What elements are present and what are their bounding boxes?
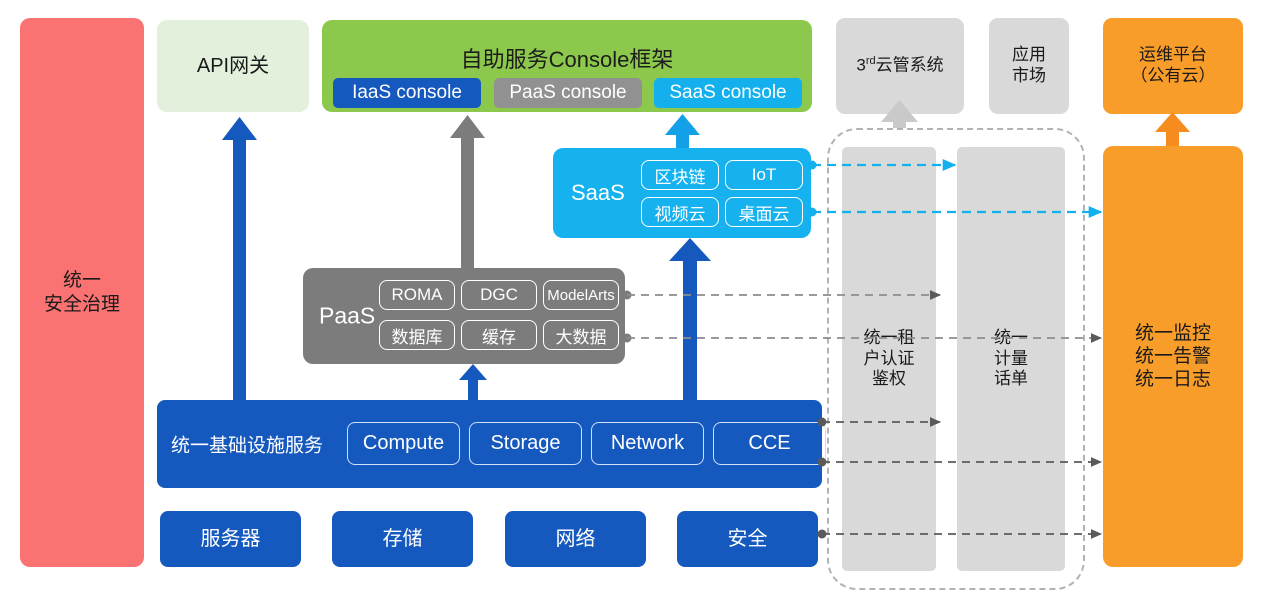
saas-console-button[interactable]: SaaS console: [654, 78, 802, 108]
resource-label-storage: 存储: [383, 527, 423, 551]
arrow-ops-column-to-ops-platform: [1155, 112, 1190, 146]
saas-chip-video-cloud[interactable]: 视频云: [641, 197, 719, 227]
resource-label-server: 服务器: [201, 527, 261, 551]
saas-layer-panel: SaaS 区块链 IoT 视频云 桌面云: [553, 148, 811, 238]
arrow-infra-to-saas: [669, 238, 711, 400]
paas-console-button[interactable]: PaaS console: [494, 78, 642, 108]
arrow-infra-to-paas: [459, 364, 487, 400]
app-marketplace-label: 应用 市场: [1012, 45, 1046, 86]
console-framework-panel: 自助服务Console框架 IaaS console PaaS console …: [322, 20, 812, 112]
saas-chip-blockchain[interactable]: 区块链: [641, 160, 719, 190]
paas-console-label: PaaS console: [509, 82, 626, 104]
paas-chip-dgc[interactable]: DGC: [461, 280, 537, 310]
infra-chip-compute[interactable]: Compute: [347, 422, 460, 465]
shared-service-billing-bar: 统一 计量 话单: [957, 147, 1065, 571]
paas-layer-panel: PaaS ROMA DGC ModelArts 数据库 缓存 大数据: [303, 268, 625, 364]
saas-chip-iot[interactable]: IoT: [725, 160, 803, 190]
arrow-saas-to-console: [665, 114, 700, 148]
ops-platform-box: 运维平台 （公有云）: [1103, 18, 1243, 114]
saas-console-label: SaaS console: [669, 82, 786, 104]
infra-chip-cce[interactable]: CCE: [713, 422, 826, 465]
api-gateway-label: API网关: [197, 54, 269, 78]
resource-box-storage: 存储: [332, 511, 473, 567]
api-gateway-box: API网关: [157, 20, 309, 112]
saas-layer-label: SaaS: [571, 180, 625, 206]
third-party-cloud-mgmt-label: 3rd云管系统: [856, 55, 943, 76]
iaas-console-label: IaaS console: [352, 82, 462, 104]
security-governance-label: 统一 安全治理: [44, 269, 120, 315]
architecture-diagram: 统一 安全治理 API网关 自助服务Console框架 IaaS console…: [0, 0, 1265, 605]
arrow-infra-to-api-gateway: [222, 117, 257, 400]
paas-chip-cache[interactable]: 缓存: [461, 320, 537, 350]
infra-chip-storage[interactable]: Storage: [469, 422, 582, 465]
ops-monitoring-column: 统一监控 统一告警 统一日志: [1103, 146, 1243, 567]
paas-layer-label: PaaS: [319, 303, 375, 330]
resource-box-server: 服务器: [160, 511, 301, 567]
paas-chip-database[interactable]: 数据库: [379, 320, 455, 350]
shared-service-auth-label: 统一租 户认证 鉴权: [864, 328, 915, 390]
infrastructure-layer-label: 统一基础设施服务: [171, 431, 323, 458]
resource-box-security: 安全: [677, 511, 818, 567]
resource-label-network: 网络: [556, 527, 596, 551]
shared-service-billing-label: 统一 计量 话单: [994, 328, 1028, 390]
iaas-console-button[interactable]: IaaS console: [333, 78, 481, 108]
ops-monitoring-label: 统一监控 统一告警 统一日志: [1135, 322, 1211, 392]
arrow-paas-to-console: [450, 115, 485, 268]
paas-chip-bigdata[interactable]: 大数据: [543, 320, 619, 350]
shared-service-auth-bar: 统一租 户认证 鉴权: [842, 147, 936, 571]
console-framework-title: 自助服务Console框架: [322, 42, 812, 74]
resource-box-network: 网络: [505, 511, 646, 567]
infrastructure-layer-panel: 统一基础设施服务 Compute Storage Network CCE: [157, 400, 822, 488]
paas-chip-modelarts[interactable]: ModelArts: [543, 280, 619, 310]
infra-chip-network[interactable]: Network: [591, 422, 704, 465]
paas-chip-roma[interactable]: ROMA: [379, 280, 455, 310]
ops-platform-label: 运维平台 （公有云）: [1131, 45, 1216, 86]
third-party-cloud-mgmt-box: 3rd云管系统: [836, 18, 964, 114]
app-marketplace-box: 应用 市场: [989, 18, 1069, 114]
security-governance-column: 统一 安全治理: [20, 18, 144, 567]
resource-label-security: 安全: [728, 527, 768, 551]
saas-chip-desktop-cloud[interactable]: 桌面云: [725, 197, 803, 227]
